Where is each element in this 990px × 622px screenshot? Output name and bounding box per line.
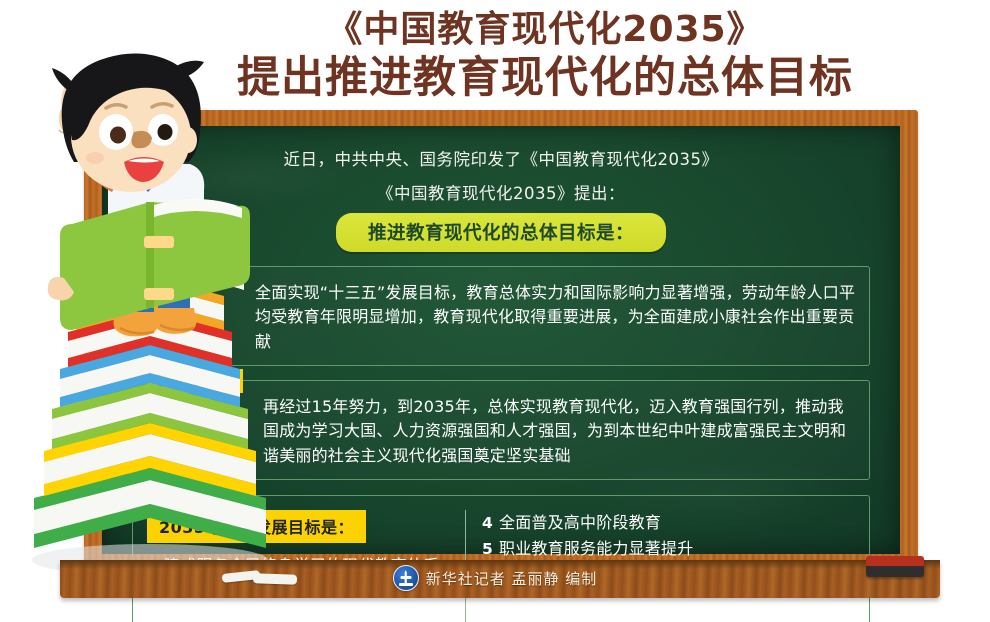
goal-block-2035-tag: 在此基础上 bbox=[147, 369, 243, 393]
goal-list-item: 8 形成全社会共同参与的教育治理新格局 bbox=[482, 615, 857, 622]
page-title: 《中国教育现代化2035》 提出推进教育现代化的总体目标 bbox=[195, 8, 895, 104]
goal-block-2020-body: 全面实现“十三五”发展目标，教育总体实力和国际影响力显著增强，劳动年龄人口平均受… bbox=[255, 281, 857, 354]
credit-line: 新华社记者 孟丽静 编制 bbox=[0, 565, 990, 591]
goals-heading: 2035年主要发展目标是： bbox=[147, 510, 366, 543]
intro-line-2: 《中国教育现代化2035》提出： bbox=[126, 180, 876, 204]
goal-label: 职业教育服务能力显著提升 bbox=[499, 536, 693, 562]
goal-list-item: 4 全面普及高中阶段教育 bbox=[482, 510, 857, 536]
goal-number: 8 bbox=[482, 616, 499, 622]
infographic-canvas: 《中国教育现代化2035》 提出推进教育现代化的总体目标 近日，中共中央、国务院… bbox=[0, 0, 990, 622]
goal-block-2035-body: 再经过15年努力，到2035年，总体实现教育现代化，迈入教育强国行列，推动我国成… bbox=[263, 395, 857, 468]
goal-label: 实现优质均衡的义务教育 bbox=[164, 605, 342, 622]
intro-line-1: 近日，中共中央、国务院印发了《中国教育现代化2035》 bbox=[126, 146, 876, 170]
goal-number: 4 bbox=[482, 511, 499, 536]
goal-list-item: 3 实现优质均衡的义务教育 bbox=[147, 605, 451, 622]
goals-section: 2035年主要发展目标是： 1 建成服务全民终身学习的现代教育体系 2 普及有质… bbox=[132, 495, 870, 622]
goal-block-2020-tag: 到2020年 bbox=[147, 255, 240, 279]
overall-goal-pill: 推进教育现代化的总体目标是： bbox=[336, 213, 666, 252]
blackboard-content: 近日，中共中央、国务院印发了《中国教育现代化2035》 《中国教育现代化2035… bbox=[102, 126, 900, 554]
goal-block-2035: 在此基础上 再经过15年努力，到2035年，总体实现教育现代化，迈入教育强国行列… bbox=[132, 380, 870, 480]
goal-number: 3 bbox=[147, 606, 164, 622]
goal-label: 形成全社会共同参与的教育治理新格局 bbox=[499, 615, 774, 622]
title-line-1: 《中国教育现代化2035》 bbox=[195, 8, 895, 51]
xinhua-logo-icon bbox=[393, 565, 419, 591]
goal-list-item: 5 职业教育服务能力显著提升 bbox=[482, 536, 857, 562]
credit-text: 新华社记者 孟丽静 编制 bbox=[426, 568, 598, 589]
blackboard-surface: 近日，中共中央、国务院印发了《中国教育现代化2035》 《中国教育现代化2035… bbox=[102, 126, 900, 554]
blackboard-frame: 近日，中共中央、国务院印发了《中国教育现代化2035》 《中国教育现代化2035… bbox=[84, 110, 918, 572]
goal-label: 全面普及高中阶段教育 bbox=[499, 510, 661, 536]
goal-block-2020: 到2020年 全面实现“十三五”发展目标，教育总体实力和国际影响力显著增强，劳动… bbox=[132, 266, 870, 366]
title-line-2: 提出推进教育现代化的总体目标 bbox=[195, 53, 895, 104]
goal-number: 5 bbox=[482, 537, 499, 562]
